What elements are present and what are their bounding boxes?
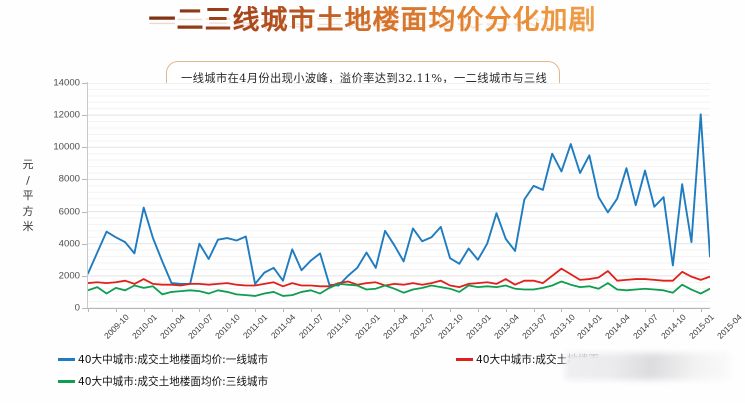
legend-item-3[interactable]: 40大中城市:成交土地楼面均价:三线城市: [58, 374, 268, 389]
x-axis-tick-label: 2014-10: [659, 312, 688, 341]
y-axis-tick-label: 8000: [34, 174, 80, 185]
chart-title-text: 一二三线城市土地楼面均价分化加剧: [149, 6, 597, 36]
x-axis-tick-label: 2012-10: [436, 312, 465, 341]
x-axis-tick-mark: [673, 308, 674, 312]
y-axis-tick-mark: [82, 308, 87, 309]
x-axis-tick-mark: [645, 308, 646, 312]
y-axis-tick-mark: [82, 115, 87, 116]
x-axis-tick-mark: [589, 308, 590, 312]
legend-swatch-icon: [456, 358, 473, 361]
y-axis-tick-mark: [82, 179, 87, 180]
y-axis-tick-label: 6000: [34, 206, 80, 217]
x-axis-tick-mark: [478, 308, 479, 312]
x-axis-tick-label: 2013-07: [520, 312, 549, 341]
y-axis-tick-label: 12000: [34, 110, 80, 121]
legend-swatch-icon: [58, 380, 75, 383]
x-axis-tick-mark: [144, 308, 145, 312]
x-axis-tick-label: 2010-01: [130, 312, 159, 341]
x-axis-tick-mark: [199, 308, 200, 312]
x-axis-tick-mark: [617, 308, 618, 312]
x-axis-tick-mark: [506, 308, 507, 312]
legend-swatch-icon: [58, 358, 75, 361]
x-axis-tick-label: 2015-01: [687, 312, 716, 341]
x-axis-tick-mark: [88, 308, 89, 312]
y-axis-tick-mark: [82, 147, 87, 148]
x-axis-tick-label: 2013-04: [492, 312, 521, 341]
x-axis-tick-label: 2011-04: [269, 312, 297, 340]
y-axis-tick-mark: [82, 83, 87, 84]
x-axis-tick-label: 2014-07: [631, 312, 660, 341]
redaction-blur-overlay: [565, 353, 730, 380]
legend-item-label: 40大中城市:成交土地楼面均价:一线城市: [78, 352, 268, 367]
y-axis-tick-label: 10000: [34, 142, 80, 153]
x-axis-tick-mark: [311, 308, 312, 312]
x-axis-tick-label: 2013-01: [464, 312, 493, 341]
legend-item-1[interactable]: 40大中城市:成交土地楼面均价:一线城市: [58, 352, 268, 367]
x-axis-tick-label: 2014-01: [575, 312, 604, 341]
y-axis-tick-label: 0: [34, 303, 80, 314]
x-axis-tick-mark: [422, 308, 423, 312]
x-axis-tick-mark: [367, 308, 368, 312]
series-line-1: [88, 114, 710, 285]
chart-page: 一二三线城市土地楼面均价分化加剧 一二三线城市土地楼面均价分化加剧 一线城市在4…: [0, 0, 745, 403]
x-axis-tick-label: 2010-04: [158, 312, 187, 341]
x-axis-tick-mark: [561, 308, 562, 312]
x-axis-tick-label: 2012-04: [381, 312, 410, 341]
x-axis-tick-label: 2011-10: [325, 312, 353, 340]
x-axis-tick-mark: [172, 308, 173, 312]
x-axis-tick-label: 2010-10: [213, 312, 242, 341]
x-axis-tick-mark: [534, 308, 535, 312]
x-axis-tick-label: 2012-01: [353, 312, 382, 341]
plot-svg: [88, 83, 710, 308]
plot-area: [88, 83, 710, 308]
y-axis-tick-mark: [82, 244, 87, 245]
x-axis-tick-mark: [283, 308, 284, 312]
y-axis-tick-label: 4000: [34, 238, 80, 249]
x-axis-tick-mark: [116, 308, 117, 312]
x-axis-tick-label: 2011-01: [241, 312, 269, 340]
y-axis-tick-label: 2000: [34, 270, 80, 281]
x-axis-tick-label: 2014-04: [603, 312, 632, 341]
x-axis-tick-mark: [255, 308, 256, 312]
y-axis-tick-label: 14000: [34, 78, 80, 89]
x-axis-tick-label: 2009-10: [102, 312, 131, 341]
x-axis-tick-label: 2011-07: [297, 312, 325, 340]
x-axis-tick-label: 2012-07: [408, 312, 437, 341]
x-axis-tick-mark: [339, 308, 340, 312]
x-axis-tick-mark: [450, 308, 451, 312]
y-axis-line: [87, 82, 88, 309]
legend-item-label: 40大中城市:成交土地楼面均价:三线城市: [78, 374, 268, 389]
x-axis-tick-mark: [394, 308, 395, 312]
x-axis-tick-label: 2015-04: [715, 312, 744, 341]
x-axis-tick-mark: [701, 308, 702, 312]
y-axis-tick-labels: 02000400060008000100001200014000: [34, 0, 80, 403]
x-axis-tick-mark: [227, 308, 228, 312]
x-axis-tick-label: 2010-07: [186, 312, 215, 341]
y-axis-tick-mark: [82, 276, 87, 277]
x-axis-tick-label: 2013-10: [548, 312, 577, 341]
y-axis-tick-mark: [82, 212, 87, 213]
